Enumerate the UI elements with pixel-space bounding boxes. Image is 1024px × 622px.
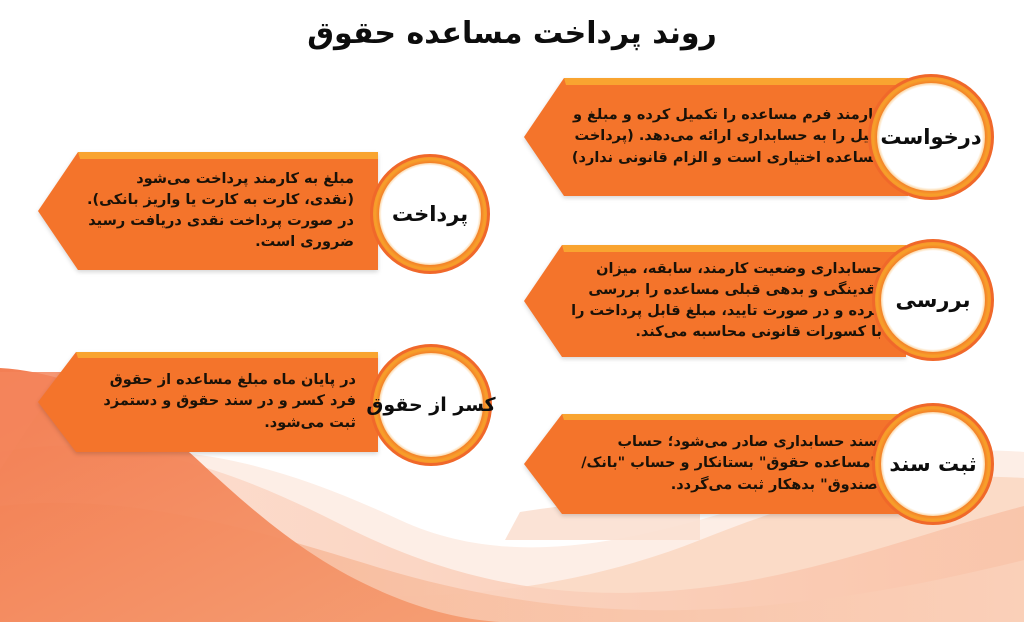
step-deduction-label: کسر از حقوق [366, 394, 495, 416]
step-deduction-banner: در پایان ماه مبلغ مساعده از حقوق فرد کسر… [38, 352, 378, 452]
step-request-text: کارمند فرم مساعده را تکمیل کرده و مبلغ و… [524, 78, 908, 196]
step-payment[interactable]: مبلغ به کارمند پرداخت می‌شود (نقدی، کارت… [38, 152, 498, 270]
step-deduction-text: در پایان ماه مبلغ مساعده از حقوق فرد کسر… [38, 352, 378, 452]
step-review-banner: حسابداری وضعیت کارمند، سابقه، میزان نقدی… [524, 245, 906, 357]
step-review-label: بررسی [896, 288, 971, 312]
step-payment-label: پرداخت [392, 202, 468, 226]
step-review-text: حسابداری وضعیت کارمند، سابقه، میزان نقدی… [524, 245, 906, 357]
step-voucher[interactable]: سند حسابداری صادر می‌شود؛ حساب "مساعده ح… [524, 414, 994, 514]
step-request-node[interactable]: درخواست [868, 74, 994, 200]
infographic-canvas: روند پرداخت مساعده حقوق کارمند فرم مساعد… [0, 0, 1024, 622]
step-payment-banner: مبلغ به کارمند پرداخت می‌شود (نقدی، کارت… [38, 152, 378, 270]
step-payment-text: مبلغ به کارمند پرداخت می‌شود (نقدی، کارت… [38, 152, 378, 270]
step-deduction[interactable]: در پایان ماه مبلغ مساعده از حقوق فرد کسر… [38, 352, 500, 452]
step-voucher-label: ثبت سند [889, 452, 976, 476]
step-voucher-node[interactable]: ثبت سند [872, 403, 994, 525]
step-review-node[interactable]: بررسی [872, 239, 994, 361]
step-deduction-node[interactable]: کسر از حقوق [370, 344, 492, 466]
step-voucher-text: سند حسابداری صادر می‌شود؛ حساب "مساعده ح… [524, 414, 902, 514]
step-request-label: درخواست [880, 125, 981, 149]
page-title: روند پرداخت مساعده حقوق [0, 16, 1024, 51]
step-request[interactable]: کارمند فرم مساعده را تکمیل کرده و مبلغ و… [524, 78, 994, 196]
step-request-banner: کارمند فرم مساعده را تکمیل کرده و مبلغ و… [524, 78, 908, 196]
wave-mid-2 [0, 503, 1024, 622]
step-voucher-banner: سند حسابداری صادر می‌شود؛ حساب "مساعده ح… [524, 414, 902, 514]
step-payment-node[interactable]: پرداخت [370, 154, 490, 274]
step-review[interactable]: حسابداری وضعیت کارمند، سابقه، میزان نقدی… [524, 245, 994, 357]
